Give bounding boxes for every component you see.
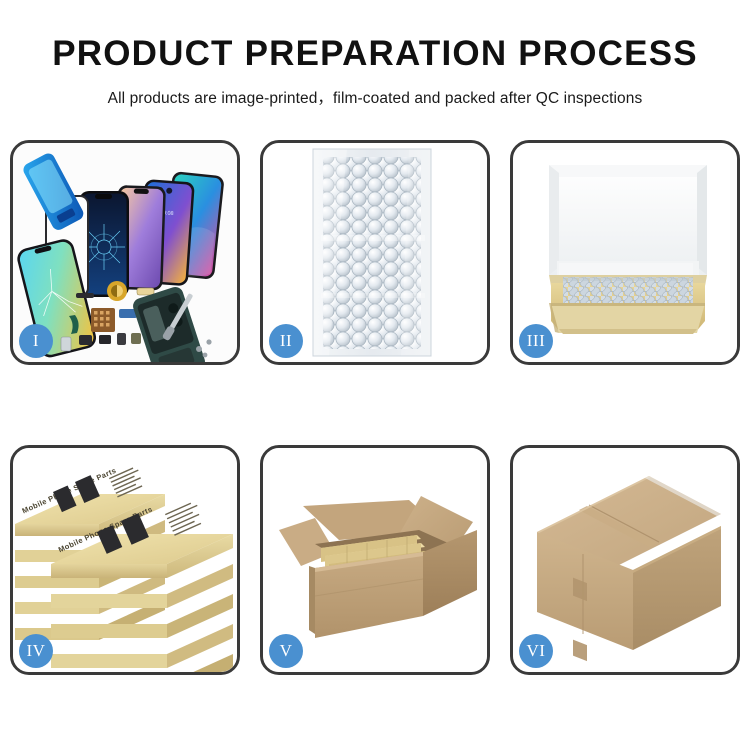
process-step-3: III	[510, 140, 740, 365]
page-title: PRODUCT PREPARATION PROCESS	[0, 36, 750, 73]
step-badge-3: III	[519, 324, 553, 358]
page-subtitle: All products are image-printed，film-coat…	[0, 86, 750, 108]
step-badge-2: II	[269, 324, 303, 358]
process-step-6: VI	[510, 445, 740, 675]
step-badge-5: V	[269, 634, 303, 668]
process-step-1: 10:08	[10, 140, 240, 365]
step-badge-1: I	[19, 324, 53, 358]
header: PRODUCT PREPARATION PROCESS All products…	[0, 0, 750, 108]
step-badge-4: IV	[19, 634, 53, 668]
process-grid: 10:08	[10, 140, 740, 675]
process-step-5: V	[260, 445, 490, 675]
process-step-2: II	[260, 140, 490, 365]
step-badge-6: VI	[519, 634, 553, 668]
infographic-page: PRODUCT PREPARATION PROCESS All products…	[0, 0, 750, 750]
process-step-4: Mobile Phone Spare Parts	[10, 445, 240, 675]
